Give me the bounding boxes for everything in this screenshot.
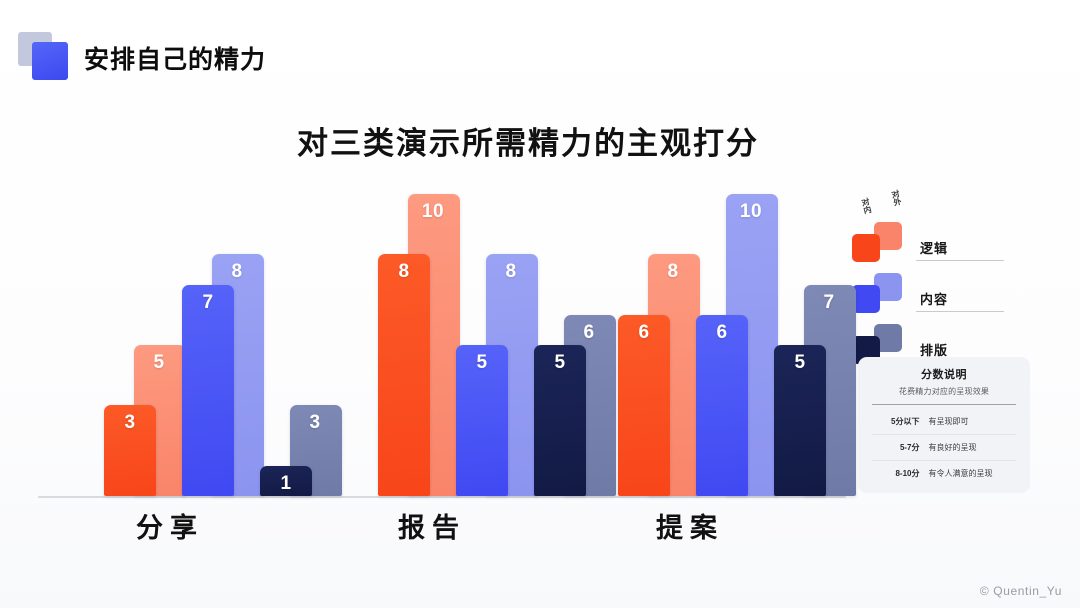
header-title: 安排自己的精力 <box>84 40 266 76</box>
logo-mark-icon <box>18 32 74 84</box>
bar-value-label: 5 <box>134 352 184 374</box>
bar-value-label: 5 <box>456 352 508 374</box>
bar-value-label: 6 <box>564 322 614 344</box>
bar-value-label: 7 <box>182 292 234 314</box>
bar-value-label: 5 <box>534 352 586 374</box>
legend-rule <box>916 311 1004 312</box>
note-rows: 5分以下有呈现即可5-7分有良好的呈现8-10分有令人满意的呈现 <box>858 409 1030 486</box>
legend-item[interactable]: 逻辑 <box>852 218 992 269</box>
category-label: 提案 <box>656 506 724 545</box>
bar-pair: 65 <box>534 180 626 496</box>
bar-front[interactable]: 1 <box>260 466 312 496</box>
note-description: 有呈现即可 <box>929 416 1011 427</box>
note-range: 5-7分 <box>878 442 920 453</box>
bar-value-label: 10 <box>408 201 458 223</box>
score-explanation-card: 分数说明 花费精力对应的呈现效果 5分以下有呈现即可5-7分有良好的呈现8-10… <box>858 357 1030 493</box>
chart-baseline <box>38 496 846 498</box>
note-subtitle: 花费精力对应的呈现效果 <box>858 386 1030 397</box>
bar-front[interactable]: 5 <box>534 345 586 496</box>
bar-value-label: 7 <box>804 292 854 314</box>
note-description: 有良好的呈现 <box>929 442 1011 453</box>
chart-title-text: 对三类演示所需精力的主观打分 <box>297 118 759 163</box>
note-row: 5分以下有呈现即可 <box>872 409 1016 435</box>
bar-front[interactable]: 6 <box>618 315 670 496</box>
bar-front[interactable]: 5 <box>774 345 826 496</box>
logo-front-square-icon <box>32 42 68 80</box>
note-divider <box>872 404 1016 405</box>
note-row: 5-7分有良好的呈现 <box>872 435 1016 461</box>
chart-legend: 对内 对外 逻辑内容排版 <box>852 192 992 371</box>
chart-plot-area: 53873110885658610675 <box>38 180 846 498</box>
legend-swatch-inner <box>852 285 880 313</box>
note-row: 8-10分有令人满意的呈现 <box>872 461 1016 486</box>
legend-item[interactable]: 内容 <box>852 269 992 320</box>
chart-title: 对三类演示所需精力的主观打分 <box>0 118 1080 163</box>
note-description: 有令人满意的呈现 <box>929 468 1011 479</box>
legend-head-outer: 对外 <box>890 189 902 206</box>
legend-swatch-inner <box>852 234 880 262</box>
slide-header: 安排自己的精力 <box>18 32 266 84</box>
bar-pair: 31 <box>260 180 352 496</box>
legend-head-inner: 对内 <box>860 197 872 214</box>
note-range: 5分以下 <box>878 416 920 427</box>
bar-value-label: 3 <box>290 412 340 434</box>
legend-swatches <box>852 273 914 315</box>
slide-canvas: 安排自己的精力 对三类演示所需精力的主观打分 53873110885658610… <box>0 0 1080 608</box>
legend-label: 逻辑 <box>920 238 948 257</box>
bar-front[interactable]: 6 <box>696 315 748 496</box>
bar-value-label: 1 <box>260 473 312 495</box>
category-label: 分享 <box>136 506 204 545</box>
legend-label: 内容 <box>920 289 948 308</box>
category-axis-labels: 分享报告提案 <box>38 506 846 550</box>
bar-value-label: 8 <box>486 261 536 283</box>
bar-value-label: 8 <box>212 261 262 283</box>
bar-value-label: 5 <box>774 352 826 374</box>
bar-front[interactable]: 3 <box>104 405 156 496</box>
legend-swatches <box>852 222 914 264</box>
category-label: 报告 <box>398 506 466 545</box>
note-title: 分数说明 <box>858 366 1030 382</box>
bar-value-label: 10 <box>726 201 776 223</box>
legend-items: 逻辑内容排版 <box>852 218 992 371</box>
bar-value-label: 8 <box>378 261 430 283</box>
legend-rule <box>916 260 1004 261</box>
bar-front[interactable]: 7 <box>182 285 234 496</box>
legend-group-heads: 对内 对外 <box>852 192 992 218</box>
bar-value-label: 6 <box>696 322 748 344</box>
note-range: 8-10分 <box>878 468 920 479</box>
bar-value-label: 6 <box>618 322 670 344</box>
bar-value-label: 3 <box>104 412 156 434</box>
bar-value-label: 8 <box>648 261 698 283</box>
bar-front[interactable]: 5 <box>456 345 508 496</box>
bar-front[interactable]: 8 <box>378 254 430 496</box>
watermark: © Quentin_Yu <box>980 584 1062 598</box>
